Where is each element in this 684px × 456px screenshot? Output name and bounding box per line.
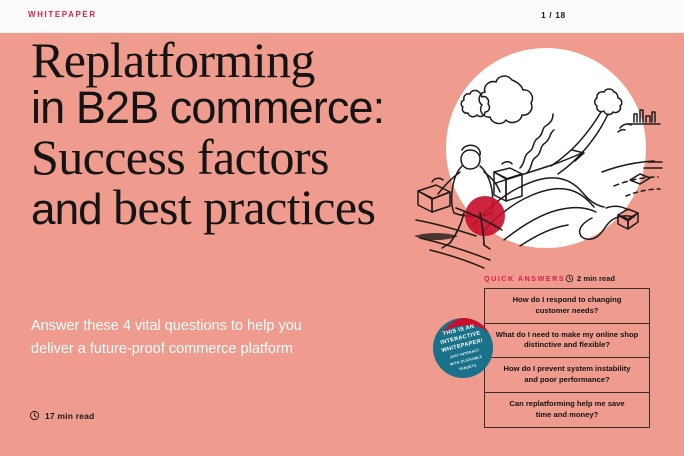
quick-answer-card[interactable]: What do I need to make my online shopdis… xyxy=(485,324,649,359)
interactive-whitepaper-badge[interactable]: THIS IS AN INTERACTIVE WHITEPAPER! JUST … xyxy=(433,318,493,378)
quick-answer-text: How do I respond to changingcustomer nee… xyxy=(513,295,622,316)
page-title: Replatforming in B2B commerce: Success f… xyxy=(31,36,411,232)
quick-answers-label: QUICK ANSWERS xyxy=(484,274,565,283)
read-time-label: 17 min read xyxy=(45,411,94,421)
quick-answers-header: QUICK ANSWERS xyxy=(484,274,565,283)
quick-answers-list: How do I respond to changingcustomer nee… xyxy=(484,288,650,428)
title-line-4-emphasis: best practices xyxy=(113,179,375,235)
title-line-1: Replatforming xyxy=(31,36,411,84)
quick-answer-text: What do I need to make my online shopdis… xyxy=(496,330,639,351)
quick-answers-read-time-label: 2 min read xyxy=(577,274,615,283)
whitepaper-cover-page: WHITEPAPER 1 / 18 xyxy=(0,0,684,456)
title-line-3: Success factors xyxy=(31,133,411,181)
clock-icon xyxy=(565,274,574,283)
page-indicator: 1 / 18 xyxy=(541,10,566,20)
page-subtitle: Answer these 4 vital questions to help y… xyxy=(31,315,341,361)
title-line-4: and best practices xyxy=(31,183,411,232)
title-line-4-prefix: and xyxy=(31,185,113,234)
clock-icon xyxy=(29,410,40,421)
businessperson-pathways-illustration xyxy=(396,40,684,272)
read-time-badge: 17 min read xyxy=(29,410,94,421)
top-header-bar: WHITEPAPER 1 / 18 xyxy=(0,0,684,33)
quick-answer-card[interactable]: How do I respond to changingcustomer nee… xyxy=(485,289,649,324)
document-type-label: WHITEPAPER xyxy=(28,10,97,19)
quick-answer-text: Can replatforming help me savetime and m… xyxy=(509,399,624,420)
quick-answer-card[interactable]: How do I prevent system instabilityand p… xyxy=(485,358,649,393)
quick-answer-card[interactable]: Can replatforming help me savetime and m… xyxy=(485,393,649,428)
quick-answer-text: How do I prevent system instabilityand p… xyxy=(503,364,630,385)
title-line-2: in B2B commerce: xyxy=(31,86,411,129)
quick-answers-read-time: 2 min read xyxy=(565,274,615,283)
